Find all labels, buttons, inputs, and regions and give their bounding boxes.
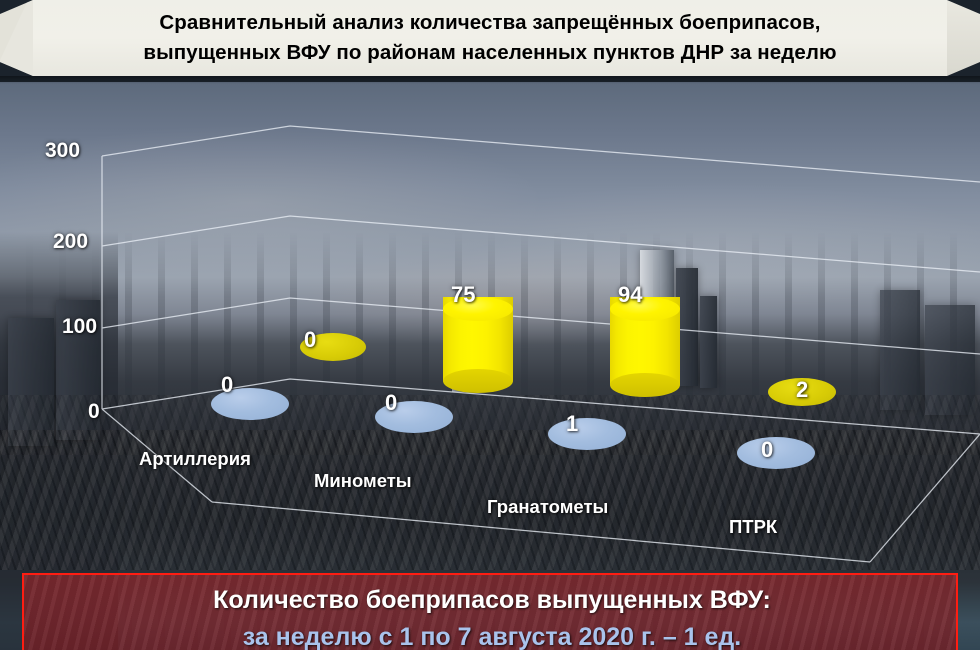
slide-root: 300 200 100 0 0 75 94 2 0 0 1 0 (0, 0, 980, 650)
value-front-grenade-launchers: 1 (566, 411, 578, 437)
footer-line-2: за неделю с 1 по 7 августа 2020 г. – 1 е… (24, 623, 958, 650)
category-label-mortars: Минометы (314, 470, 412, 492)
bar-disc (737, 437, 815, 469)
value-back-artillery: 0 (304, 327, 316, 353)
y-tick-100: 100 (62, 315, 97, 339)
header-banner: Сравнительный анализ количества запрещён… (0, 0, 980, 82)
bar-front-atgm[interactable] (737, 437, 815, 469)
category-label-grenade-launchers: Гранатометы (487, 496, 608, 518)
value-back-atgm: 2 (796, 377, 808, 403)
banner-left-bevel (0, 0, 34, 76)
y-tick-300: 300 (45, 139, 80, 163)
category-label-artillery: Артиллерия (139, 448, 251, 470)
value-front-atgm: 0 (761, 437, 773, 463)
value-back-grenade-launchers: 94 (618, 282, 642, 308)
bar-front-grenade-launchers[interactable] (548, 418, 626, 450)
y-tick-200: 200 (53, 230, 88, 254)
bar-back-grenade-launchers[interactable] (610, 297, 680, 397)
bar-back-mortars[interactable] (443, 297, 513, 393)
value-back-mortars: 75 (451, 282, 475, 308)
page-title-line2: выпущенных ВФУ по районам населенных пун… (50, 38, 930, 68)
footer-callout: Количество боеприпасов выпущенных ВФУ: з… (22, 573, 958, 650)
page-title-line1: Сравнительный анализ количества запрещён… (50, 8, 930, 38)
bar-cylinder-bottom (443, 369, 513, 393)
banner-right-bevel (946, 0, 980, 76)
footer-line-1: Количество боеприпасов выпущенных ВФУ: (24, 586, 958, 615)
category-label-atgm: ПТРК (729, 516, 777, 538)
value-front-mortars: 0 (385, 390, 397, 416)
bar-disc (548, 418, 626, 450)
y-tick-0: 0 (88, 400, 100, 424)
bar-cylinder-bottom (610, 373, 680, 397)
banner-drop-shadow (0, 76, 980, 84)
value-front-artillery: 0 (221, 372, 233, 398)
page-title: Сравнительный анализ количества запрещён… (50, 8, 930, 68)
